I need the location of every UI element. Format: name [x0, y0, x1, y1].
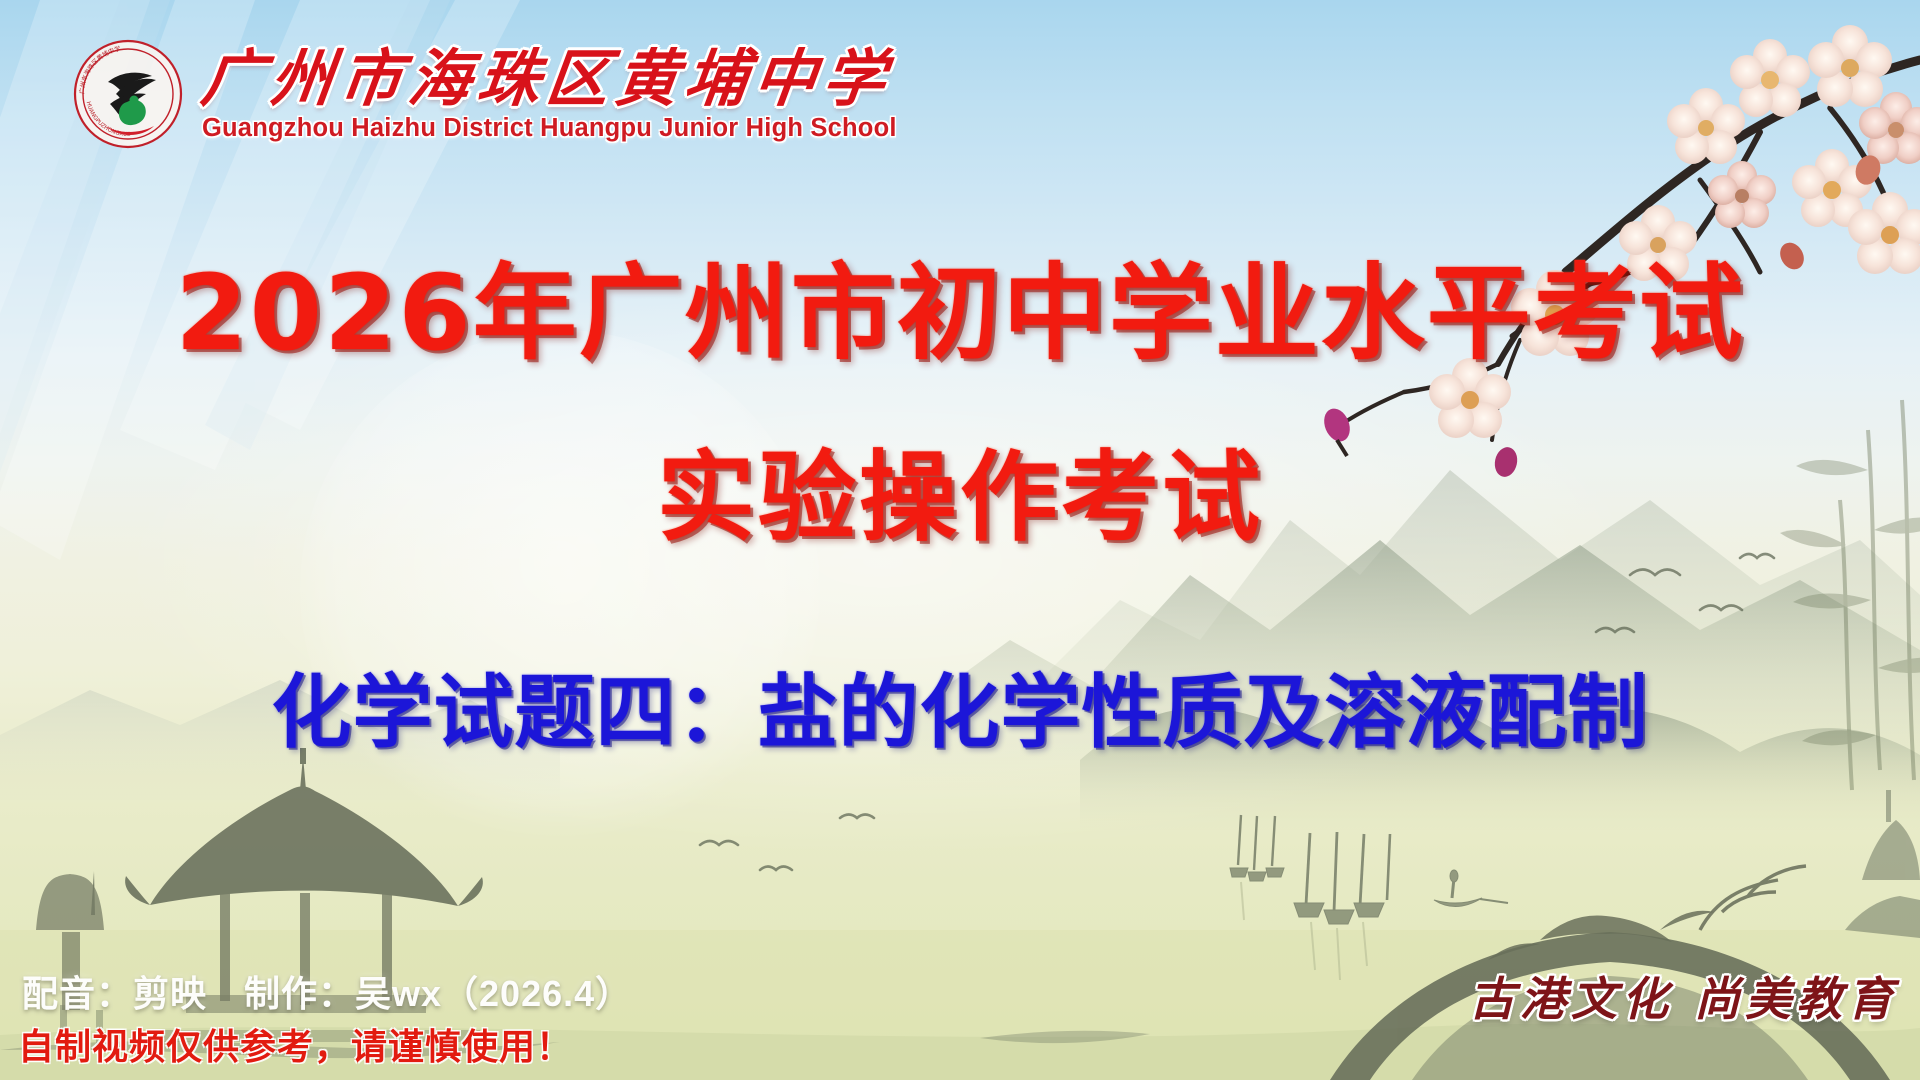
sailing-boats [1230, 815, 1508, 924]
school-emblem-icon: 广州市海珠区黄埔中学 HUANGPUZHONGXUE [72, 38, 184, 150]
school-header: 广州市海珠区黄埔中学 HUANGPUZHONGXUE [72, 38, 897, 150]
school-name-block: 广州市海珠区黄埔中学 Guangzhou Haizhu District Hua… [202, 45, 897, 143]
school-name-cn: 广州市海珠区黄埔中学 [198, 47, 900, 110]
disclaimer-text: 自制视频仅供参考，请谨慎使用！ [18, 1018, 573, 1070]
title-slide: 广州市海珠区黄埔中学 HUANGPUZHONGXUE [0, 0, 1920, 1080]
school-name-en: Guangzhou Haizhu District Huangpu Junior… [202, 114, 897, 143]
exam-title-line-2: 实验操作考试 [0, 418, 1920, 560]
credit-text: 配音：剪映 制作：吴wx（2026.4） [22, 965, 632, 1017]
brand-watermark: 古港文化 尚美教育 [1469, 963, 1898, 1029]
exam-title-line-1: 2026年广州市初中学业水平考试 [0, 228, 1920, 379]
exam-subject-line: 化学试题四：盐的化学性质及溶液配制 [0, 648, 1920, 764]
soft-watermark-circle [300, 330, 820, 850]
